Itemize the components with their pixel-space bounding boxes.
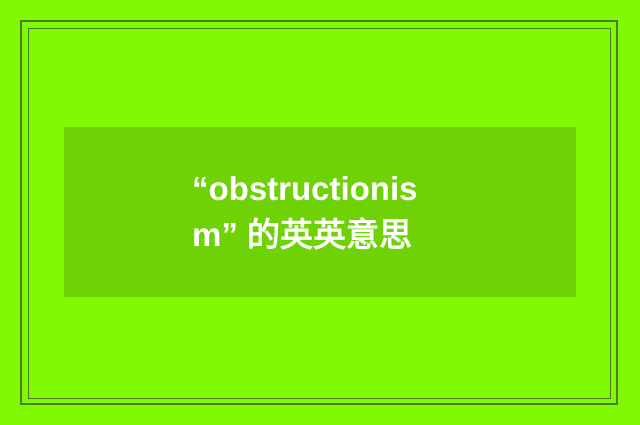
headline-block: “obstructionism” 的英英意思 [64,127,576,297]
headline-title: “obstructionism” 的英英意思 [192,166,460,258]
headline-panel: “obstructionism” 的英英意思 [64,127,576,297]
image-card: “obstructionism” 的英英意思 [0,0,640,425]
